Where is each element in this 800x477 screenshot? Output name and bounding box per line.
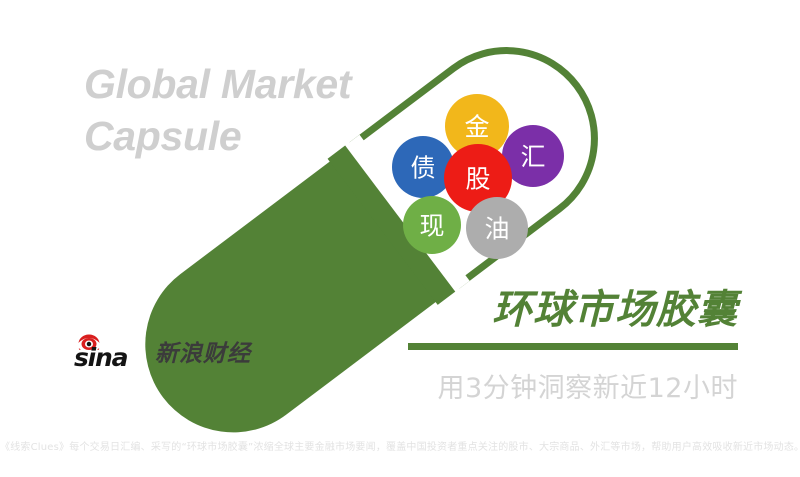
pill-label-stocks: 股 (465, 165, 490, 194)
chinese-title: 环球市场胶囊 (408, 288, 738, 332)
pill-label-gold: 金 (464, 113, 489, 142)
sina-mark: sina (74, 334, 146, 368)
chinese-subtitle: 用3分钟洞察新近12小时 (408, 366, 738, 405)
footer-disclaimer: 《线索Clues》每个交易日汇编、采写的“环球市场胶囊”浓缩全球主要金融市场要闻… (0, 438, 800, 453)
headline-rule (408, 343, 738, 350)
pill-label-cash: 现 (419, 212, 444, 241)
pill-label-bonds: 债 (410, 154, 435, 183)
headline-block: 环球市场胶囊 用3分钟洞察新近12小时 (408, 288, 738, 405)
sina-wordmark: sina (74, 345, 127, 370)
sina-chinese-name: 新浪财经 (155, 343, 251, 368)
pill-label-forex: 汇 (520, 143, 545, 172)
sina-finance-logo: sina 新浪财经 (74, 334, 251, 368)
pill-label-oil: 油 (484, 215, 509, 244)
